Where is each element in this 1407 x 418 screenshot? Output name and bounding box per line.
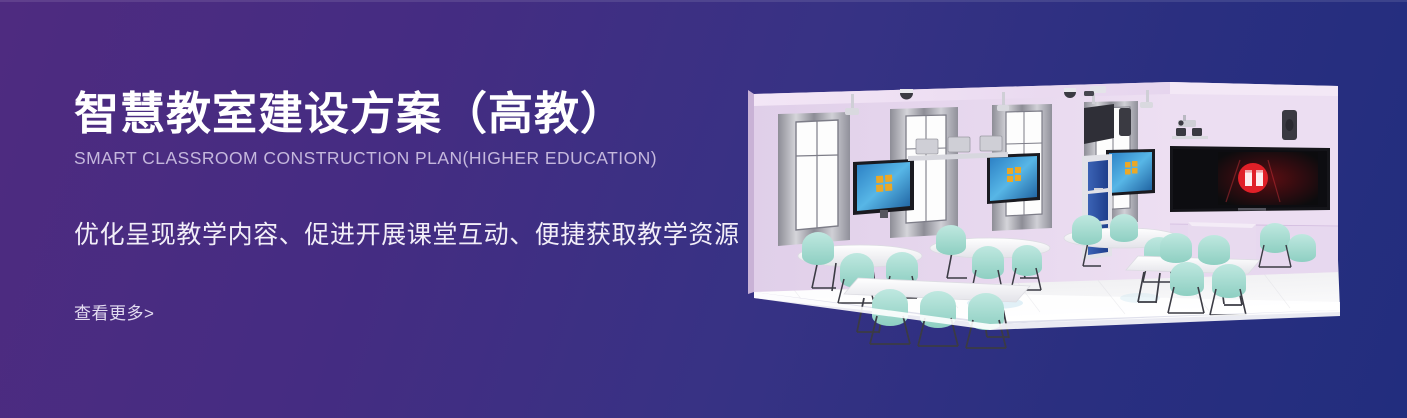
monitor-shelf	[908, 136, 1008, 161]
view-more-link[interactable]: 查看更多>	[74, 299, 154, 324]
chair	[1198, 235, 1230, 265]
chair	[1110, 214, 1138, 242]
tracking-camera	[1192, 128, 1202, 136]
window	[778, 112, 850, 246]
side-display	[987, 153, 1040, 204]
banner-copy: 智慧教室建设方案（高教） SMART CLASSROOM CONSTRUCTIO…	[74, 88, 774, 324]
side-display	[1106, 149, 1155, 196]
chair	[1160, 233, 1192, 263]
flat-monitor	[948, 137, 970, 152]
main-display-active-area	[1218, 152, 1318, 205]
display-logo	[1238, 163, 1268, 193]
main-display[interactable]	[1170, 146, 1330, 212]
flat-monitor	[916, 139, 938, 154]
tracking-camera	[1176, 128, 1186, 136]
chair	[1288, 234, 1316, 262]
speaker	[1119, 108, 1131, 136]
speaker	[1282, 110, 1297, 140]
chair	[936, 225, 966, 255]
side-display	[853, 159, 914, 218]
page-description: 优化呈现教学内容、促进开展课堂互动、便捷获取教学资源	[74, 215, 774, 251]
chair	[1072, 215, 1102, 245]
chair	[1260, 223, 1290, 253]
smart-classroom-illustration	[740, 60, 1360, 380]
smart-classroom-banner: 智慧教室建设方案（高教） SMART CLASSROOM CONSTRUCTIO…	[0, 0, 1407, 418]
speaker	[1084, 104, 1114, 144]
page-title: 智慧教室建设方案（高教）	[74, 88, 774, 140]
chair	[802, 232, 834, 265]
chair	[872, 289, 908, 326]
flat-monitor	[980, 136, 1002, 151]
page-subtitle-english: SMART CLASSROOM CONSTRUCTION PLAN(HIGHER…	[74, 148, 774, 169]
